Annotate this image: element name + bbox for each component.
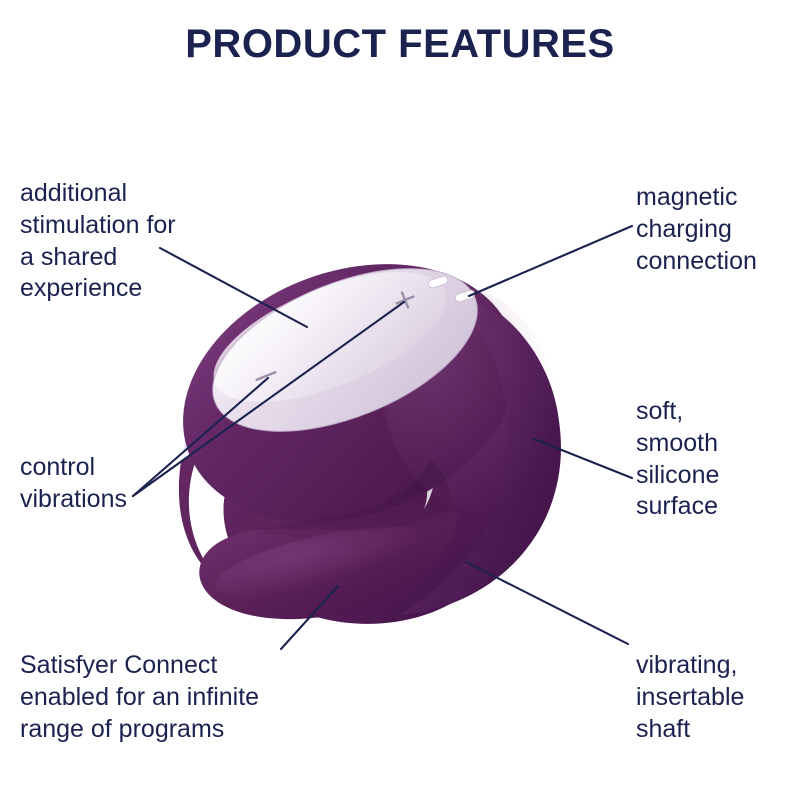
feature-label-magnetic-charging: magnetic charging connection — [636, 182, 800, 277]
product-features-infographic: PRODUCT FEATURES — [0, 0, 800, 800]
leader-line-magnetic — [469, 226, 632, 296]
leader-line-shaft — [466, 562, 628, 644]
feature-label-soft-silicone: soft, smooth silicone surface — [636, 396, 800, 523]
feature-label-additional-stimulation: additional stimulation for a shared expe… — [20, 178, 250, 305]
feature-label-insertable-shaft: vibrating, insertable shaft — [636, 650, 800, 745]
feature-label-control-vibrations: control vibrations — [20, 452, 240, 516]
feature-label-satisfyer-connect: Satisfyer Connect enabled for an infinit… — [20, 650, 350, 745]
